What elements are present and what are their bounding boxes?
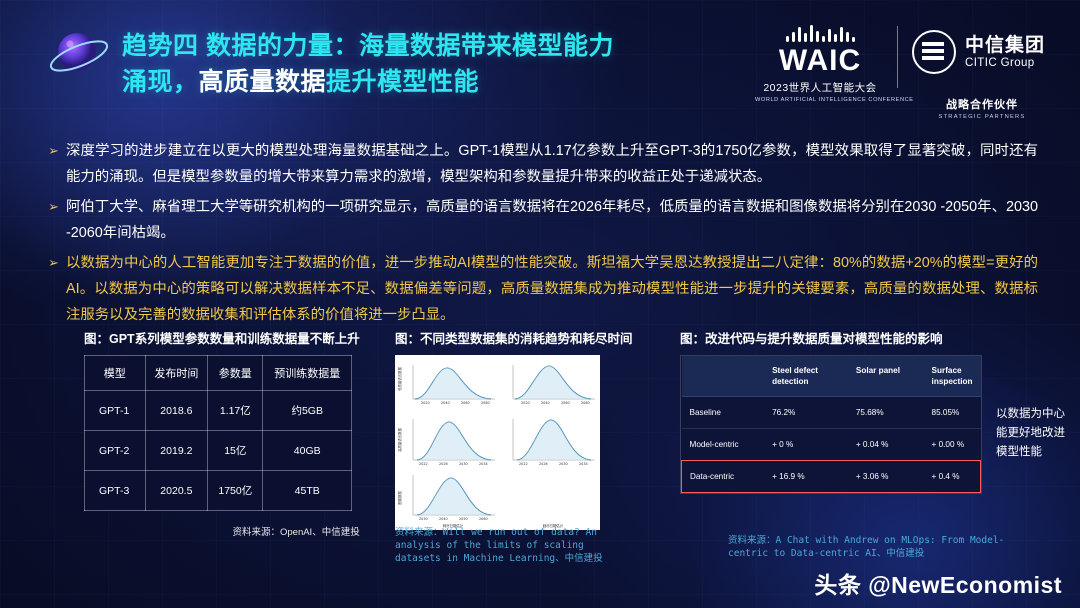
- waic-wordmark: WAIC: [755, 45, 885, 77]
- figure-1: 图：GPT系列模型参数数量和训练数据量不断上升 模型 发布时间 参数量 预训练数…: [84, 328, 360, 511]
- waic-chinese-name: 2023世界人工智能大会: [755, 80, 885, 95]
- svg-text:2030: 2030: [419, 517, 428, 521]
- waic-soundwave-icon: [755, 24, 885, 42]
- table-cell: 2019.2: [145, 431, 208, 471]
- svg-text:2040: 2040: [541, 401, 550, 405]
- figure-1-source: 资料来源：OpenAI、中信建投: [232, 524, 359, 538]
- partner-label: 战略合作伙伴 STRATEGIC PARTNERS: [897, 96, 1067, 120]
- svg-text:高质量语言数据: 高质量语言数据: [397, 428, 402, 452]
- table-cell: 40GB: [263, 431, 352, 471]
- slide-header: 趋势四 数据的力量：海量数据带来模型能力 涌现，高质量数据提升模型性能 WAIC…: [0, 0, 1080, 124]
- figure-1-caption: 图：GPT系列模型参数数量和训练数据量不断上升: [84, 328, 360, 347]
- title-line-2-part-a: 涌现: [122, 68, 173, 96]
- bullet-marker-icon: ➢: [48, 250, 66, 328]
- table-header-cell: Solar panel: [848, 356, 924, 397]
- table-header-cell: Steel defect detection: [764, 356, 848, 397]
- table-header-row: Steel defect detection Solar panel Surfa…: [682, 356, 981, 397]
- title-line-2-highlight: 高质量数据: [199, 68, 327, 96]
- svg-text:2020: 2020: [521, 401, 530, 405]
- figure-2-source: 资料来源：Will we run out of data? An analysi…: [395, 526, 625, 565]
- bullet-item: ➢ 阿伯丁大学、麻省理工大学等研究机构的一项研究显示，高质量的语言数据将在202…: [48, 194, 1038, 246]
- table-cell: 15亿: [208, 431, 263, 471]
- table-row: Model-centric + 0 % + 0.04 % + 0.00 %: [682, 429, 981, 461]
- table-cell: + 0.00 %: [924, 429, 981, 461]
- header-divider: [897, 26, 898, 88]
- table-cell: 2018.6: [145, 391, 208, 431]
- figure-3: 图：改进代码与提升数据质量对模型性能的影响 Steel defect detec…: [680, 328, 982, 494]
- table-header-cell: 预训练数据量: [263, 356, 352, 391]
- svg-text:2034: 2034: [479, 462, 488, 466]
- svg-text:2020: 2020: [421, 401, 430, 405]
- svg-text:2026: 2026: [539, 462, 548, 466]
- partner-english: STRATEGIC PARTNERS: [897, 114, 1067, 120]
- table-cell: 45TB: [263, 471, 352, 511]
- title-line-2-comma: ，: [173, 68, 199, 96]
- table-header-row: 模型 发布时间 参数量 预训练数据量: [85, 356, 352, 391]
- citic-logo: 中信集团 CITIC Group: [912, 30, 1045, 74]
- svg-text:2040: 2040: [439, 517, 448, 521]
- bullet-text: 阿伯丁大学、麻省理工大学等研究机构的一项研究显示，高质量的语言数据将在2026年…: [66, 194, 1038, 246]
- table-cell: + 0.4 %: [924, 461, 981, 493]
- table-cell: 2020.5: [145, 471, 208, 511]
- planet-icon: [48, 24, 110, 86]
- table-cell: + 3.06 %: [848, 461, 924, 493]
- bullet-marker-icon: ➢: [48, 194, 66, 246]
- svg-text:2040: 2040: [441, 401, 450, 405]
- svg-text:2022: 2022: [519, 462, 528, 466]
- figure-2-caption: 图：不同类型数据集的消耗趋势和耗尽时间: [395, 328, 633, 347]
- figure-3-source: 资料来源：A Chat with Andrew on MLOps: From M…: [728, 534, 1018, 560]
- table-cell: + 16.9 %: [764, 461, 848, 493]
- table-cell: + 0.04 %: [848, 429, 924, 461]
- bullet-item: ➢ 深度学习的进步建立在以更大的模型处理海量数据基础之上。GPT-1模型从1.1…: [48, 138, 1038, 190]
- bullet-text: 深度学习的进步建立在以更大的模型处理海量数据基础之上。GPT-1模型从1.17亿…: [66, 138, 1038, 190]
- waic-english-name: WORLD ARTIFICIAL INTELLIGENCE CONFERENCE: [755, 97, 885, 103]
- table-header-cell: 参数量: [208, 356, 263, 391]
- table-row: GPT-1 2018.6 1.17亿 约5GB: [85, 391, 352, 431]
- side-note: 以数据为中心能更好地改进模型性能: [996, 405, 1066, 462]
- table-cell: GPT-1: [85, 391, 146, 431]
- data-centric-table: Steel defect detection Solar panel Surfa…: [681, 356, 981, 493]
- table-cell: GPT-3: [85, 471, 146, 511]
- table-cell: + 0 %: [764, 429, 848, 461]
- svg-text:2080: 2080: [481, 401, 490, 405]
- svg-text:低质量语言数据: 低质量语言数据: [397, 367, 402, 391]
- svg-text:图像数据: 图像数据: [397, 491, 402, 505]
- table-cell: GPT-2: [85, 431, 146, 471]
- svg-text:2034: 2034: [579, 462, 588, 466]
- partner-chinese: 战略合作伙伴: [897, 96, 1067, 112]
- table-cell: 1750亿: [208, 471, 263, 511]
- waic-logo: WAIC 2023世界人工智能大会 WORLD ARTIFICIAL INTEL…: [755, 24, 885, 103]
- svg-text:2060: 2060: [479, 517, 488, 521]
- table-cell: 75.68%: [848, 397, 924, 429]
- table-header-cell: Surface inspection: [924, 356, 981, 397]
- citic-english-name: CITIC Group: [965, 56, 1045, 70]
- svg-text:2026: 2026: [439, 462, 448, 466]
- title-line-1: 趋势四 数据的力量：海量数据带来模型能力: [122, 28, 722, 64]
- data-exhaustion-chart-svg: 低质量语言数据 2020204020602080 202020402060208…: [395, 355, 600, 530]
- svg-text:2030: 2030: [559, 462, 568, 466]
- table-cell: 1.17亿: [208, 391, 263, 431]
- table-row: GPT-2 2019.2 15亿 40GB: [85, 431, 352, 471]
- title-line-2-part-c: 提升模型性能: [326, 68, 479, 96]
- slide-title: 趋势四 数据的力量：海量数据带来模型能力 涌现，高质量数据提升模型性能: [122, 28, 722, 100]
- table-header-cell: [682, 356, 765, 397]
- svg-text:2060: 2060: [461, 401, 470, 405]
- table-cell: Model-centric: [682, 429, 765, 461]
- bullet-list: ➢ 深度学习的进步建立在以更大的模型处理海量数据基础之上。GPT-1模型从1.1…: [48, 138, 1038, 332]
- table-cell: Baseline: [682, 397, 765, 429]
- svg-text:2080: 2080: [581, 401, 590, 405]
- svg-text:2030: 2030: [459, 462, 468, 466]
- figure-2: 图：不同类型数据集的消耗趋势和耗尽时间 低质量语言数据 202020402060…: [395, 328, 633, 530]
- slide: 趋势四 数据的力量：海量数据带来模型能力 涌现，高质量数据提升模型性能 WAIC…: [0, 0, 1080, 608]
- table-cell: 76.2%: [764, 397, 848, 429]
- data-centric-table-wrapper: Steel defect detection Solar panel Surfa…: [680, 355, 982, 494]
- gpt-parameters-table: 模型 发布时间 参数量 预训练数据量 GPT-1 2018.6 1.17亿 约5…: [84, 355, 352, 511]
- bullet-text: 以数据为中心的人工智能更加专注于数据的价值，进一步推动AI模型的性能突破。斯坦福…: [66, 250, 1038, 328]
- watermark: 头条 @NewEconomist: [814, 566, 1062, 600]
- table-header-cell: 发布时间: [145, 356, 208, 391]
- table-row-highlighted: Data-centric + 16.9 % + 3.06 % + 0.4 %: [682, 461, 981, 493]
- table-cell: 约5GB: [263, 391, 352, 431]
- citic-mark-icon: [912, 30, 956, 74]
- table-row: GPT-3 2020.5 1750亿 45TB: [85, 471, 352, 511]
- citic-chinese-name: 中信集团: [965, 35, 1045, 56]
- svg-text:2050: 2050: [459, 517, 468, 521]
- data-exhaustion-chart: 低质量语言数据 2020204020602080 202020402060208…: [395, 355, 600, 530]
- table-cell: Data-centric: [682, 461, 765, 493]
- title-line-2: 涌现，高质量数据提升模型性能: [122, 64, 722, 100]
- table-row: Baseline 76.2% 75.68% 85.05%: [682, 397, 981, 429]
- bullet-marker-icon: ➢: [48, 138, 66, 190]
- svg-text:2022: 2022: [419, 462, 428, 466]
- table-cell: 85.05%: [924, 397, 981, 429]
- svg-text:2060: 2060: [561, 401, 570, 405]
- bullet-item-highlighted: ➢ 以数据为中心的人工智能更加专注于数据的价值，进一步推动AI模型的性能突破。斯…: [48, 250, 1038, 328]
- figure-3-caption: 图：改进代码与提升数据质量对模型性能的影响: [680, 328, 982, 347]
- table-header-cell: 模型: [85, 356, 146, 391]
